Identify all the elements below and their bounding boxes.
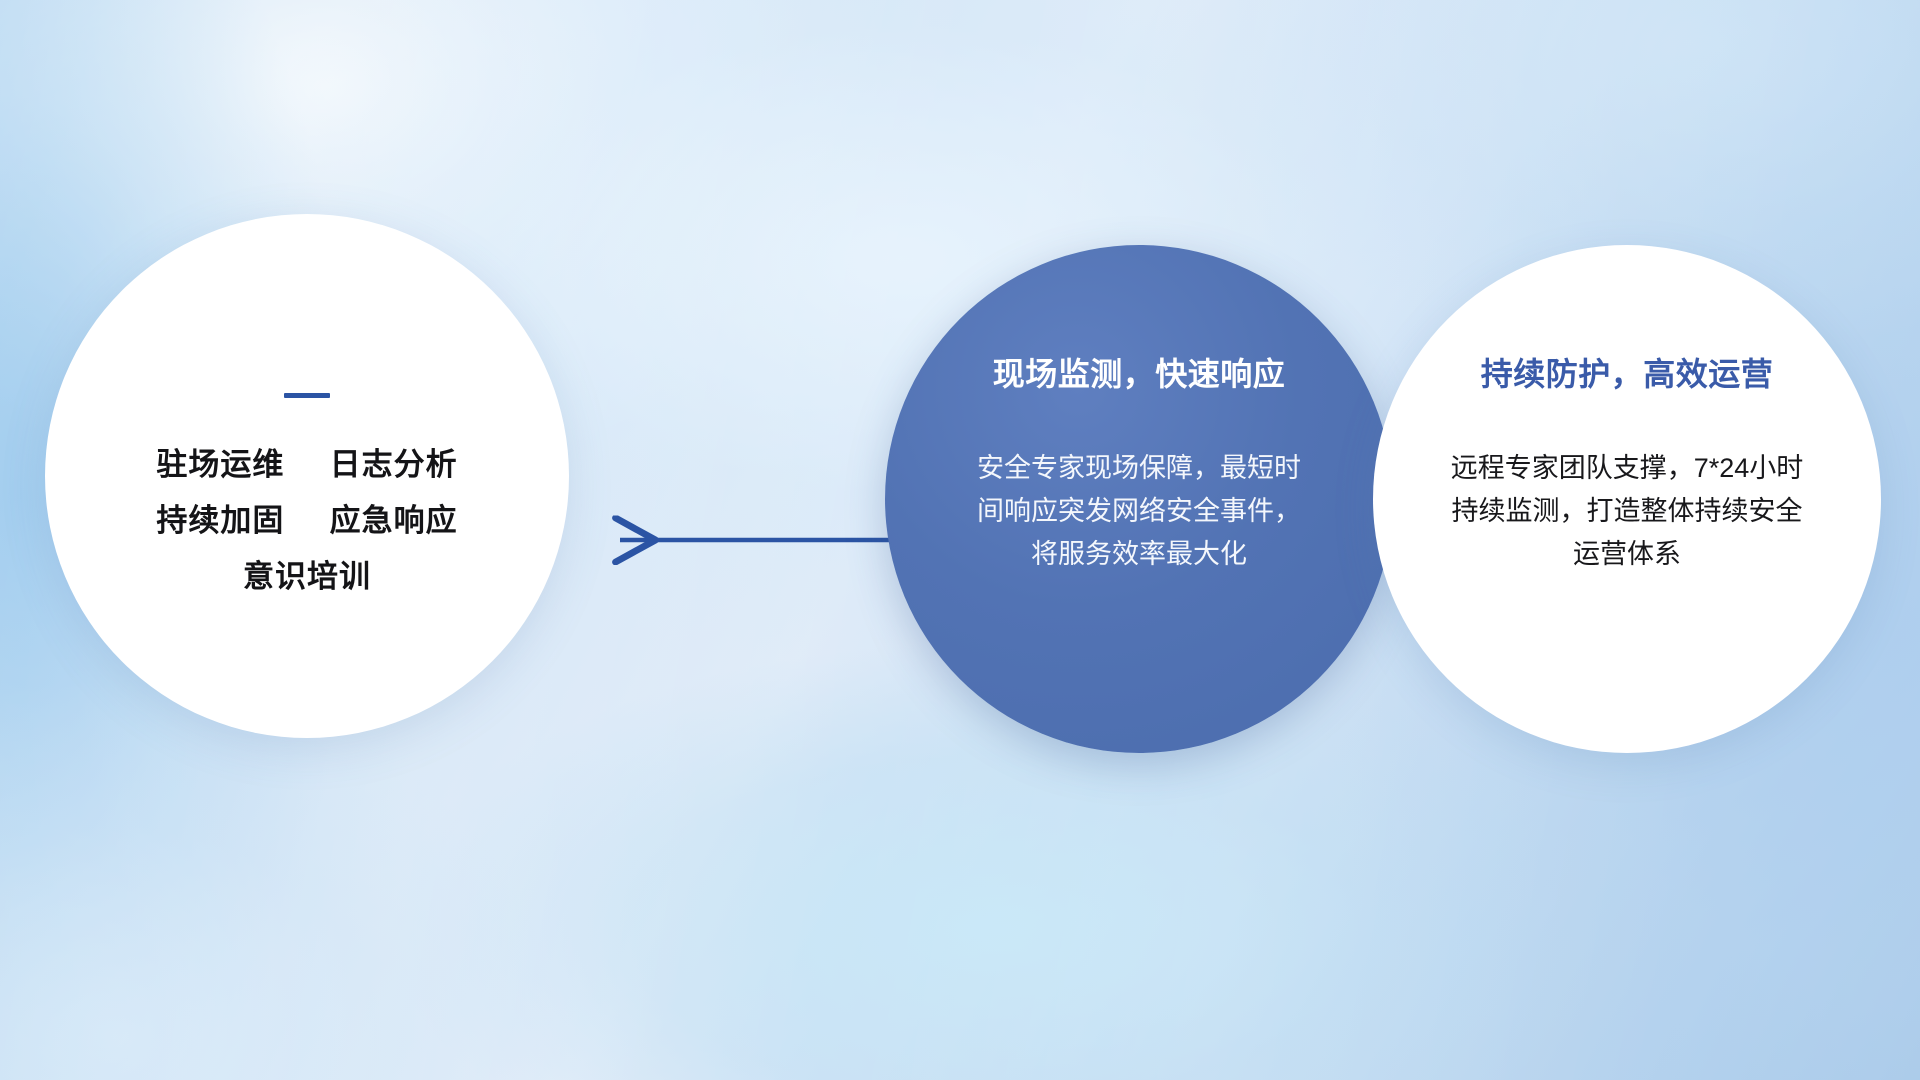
capability-item-onsite-ops: 驻场运维	[156, 447, 284, 482]
continuous-protection-body: 远程专家团队支撑，7*24小时持续监测，打造整体持续安全运营体系	[1441, 447, 1813, 577]
capabilities-circle: 驻场运维 日志分析 持续加固 应急响应 意识培训	[45, 214, 569, 738]
capability-row: 持续加固 应急响应	[156, 493, 457, 549]
capability-row: 驻场运维 日志分析	[156, 437, 457, 493]
diagram-canvas: 驻场运维 日志分析 持续加固 应急响应 意识培训 现场监测，快速响应 安全专家现…	[0, 0, 1920, 1080]
onsite-monitoring-circle: 现场监测，快速响应 安全专家现场保障，最短时间响应突发网络安全事件，将服务效率最…	[885, 245, 1393, 753]
connector-arrow-left	[600, 500, 900, 580]
capability-item-log-analysis: 日志分析	[330, 447, 458, 482]
capability-list: 驻场运维 日志分析 持续加固 应急响应 意识培训	[156, 437, 457, 604]
continuous-protection-title: 持续防护，高效运营	[1481, 349, 1774, 395]
onsite-monitoring-title: 现场监测，快速响应	[993, 349, 1286, 395]
capability-item-awareness-training: 意识培训	[243, 559, 371, 594]
divider-dash-icon	[284, 393, 330, 398]
capability-row: 意识培训	[156, 549, 457, 605]
capability-item-incident-response: 应急响应	[330, 503, 458, 538]
onsite-monitoring-body: 安全专家现场保障，最短时间响应突发网络安全事件，将服务效率最大化	[974, 447, 1304, 577]
capability-item-continuous-hardening: 持续加固	[156, 503, 284, 538]
continuous-protection-circle: 持续防护，高效运营 远程专家团队支撑，7*24小时持续监测，打造整体持续安全运营…	[1373, 245, 1881, 753]
